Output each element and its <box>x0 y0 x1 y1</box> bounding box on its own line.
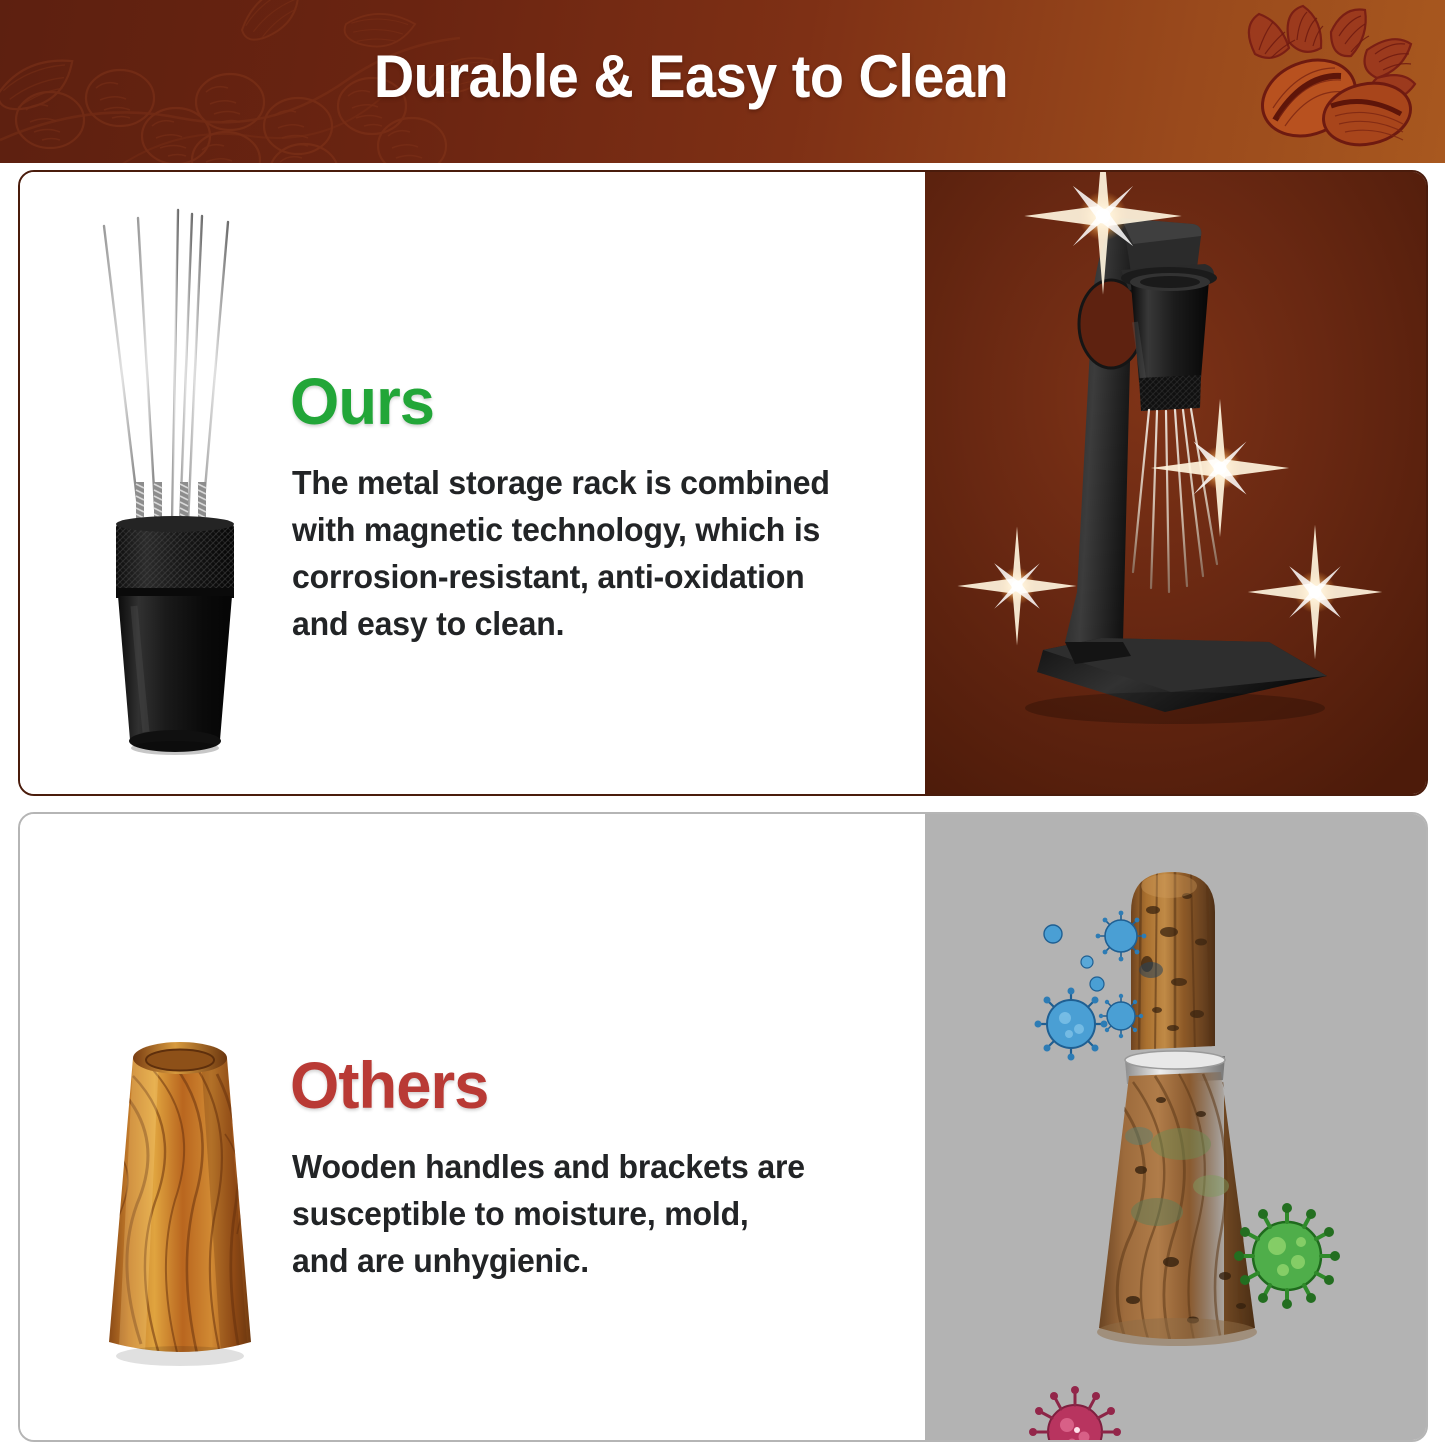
others-photo-pane <box>925 814 1426 1440</box>
moldy-wooden-tool-photo <box>925 814 1426 1440</box>
comparison-card-others: Others Wooden handles and brackets are s… <box>18 812 1428 1442</box>
black-metal-stand-photo <box>925 172 1426 794</box>
wooden-cone-holder-icon <box>75 1024 285 1384</box>
black-metal-wdt-tool-icon <box>60 192 290 772</box>
comparison-card-ours: Ours The metal storage rack is combined … <box>18 170 1428 796</box>
others-text-pane: Others Wooden handles and brackets are s… <box>20 814 925 1440</box>
infographic-page: Durable & Easy to Clean <box>0 0 1445 1445</box>
header-banner: Durable & Easy to Clean <box>0 0 1445 163</box>
others-description: Wooden handles and brackets are suscepti… <box>292 1144 913 1285</box>
ours-label: Ours <box>290 368 434 434</box>
page-title: Durable & Easy to Clean <box>48 42 1333 111</box>
ours-description: The metal storage rack is combined with … <box>292 460 913 647</box>
ours-text-pane: Ours The metal storage rack is combined … <box>20 172 925 794</box>
ours-photo-pane <box>925 172 1426 794</box>
others-label: Others <box>290 1052 488 1118</box>
